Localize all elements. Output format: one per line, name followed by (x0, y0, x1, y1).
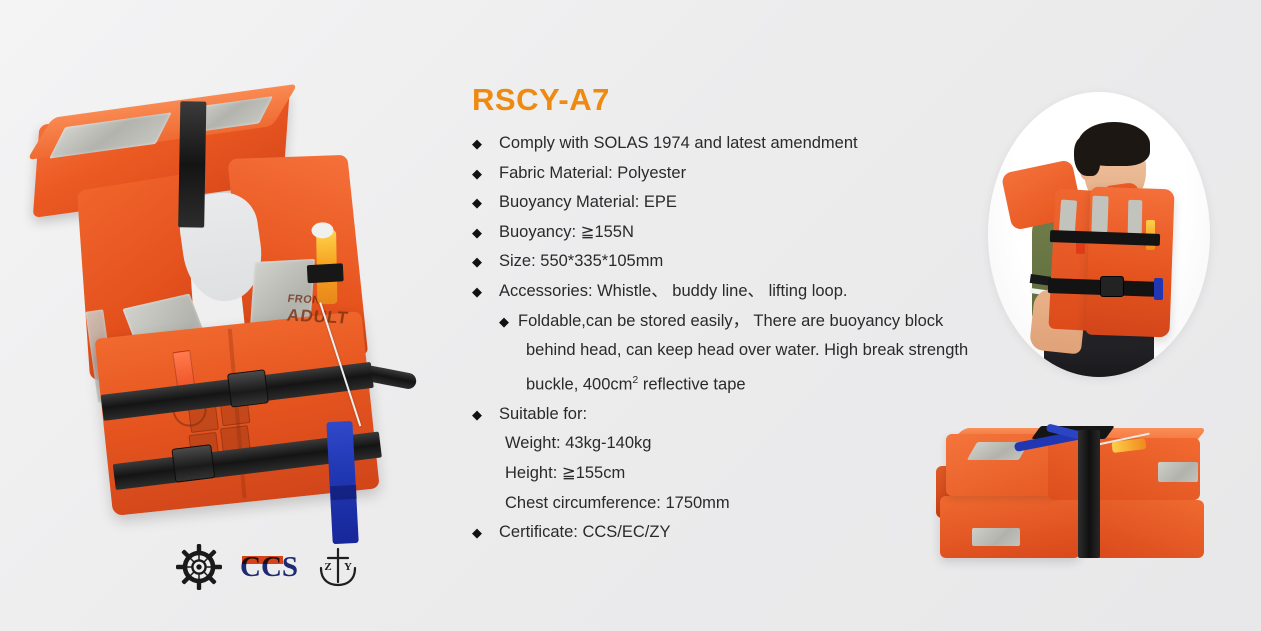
folded-binding-strap (1078, 430, 1100, 558)
spec-item-certificate: Certificate: CCS/EC/ZY (472, 518, 972, 548)
zy-anchor-icon: Z Y (316, 544, 360, 590)
life-jacket-illustration: FRONT ADULT (20, 79, 456, 537)
waist-buckle (171, 444, 215, 483)
suitable-chest: Chest circumference: 1750mm (472, 489, 972, 519)
spec-item-suitable: Suitable for: (472, 400, 972, 430)
ship-wheel-icon (176, 544, 222, 590)
reflective-tape (1091, 196, 1108, 233)
lifting-loop-strap (1154, 278, 1163, 300)
spec-item: Fabric Material: Polyester (472, 159, 972, 189)
shoulder-strap (178, 101, 206, 227)
suitable-height: Height: ≧155cm (472, 459, 972, 489)
reflective-tape (972, 528, 1020, 546)
ccs-logo-text: CCS (240, 551, 298, 583)
anchor-letter-z: Z (324, 561, 331, 573)
spec-item: Buoyancy: ≧155N (472, 218, 972, 248)
suitable-weight: Weight: 43kg-140kg (472, 429, 972, 459)
chest-buckle (227, 369, 269, 407)
spec-list: Comply with SOLAS 1974 and latest amendm… (472, 129, 972, 429)
boy-wearing-life-jacket-photo (988, 92, 1210, 377)
foldable-note-text-tail: reflective tape (638, 375, 745, 393)
spec-item-foldable: Foldable,can be stored easily， There are… (499, 307, 986, 400)
reflective-tape (1128, 200, 1143, 234)
printed-adult-label: ADULT (286, 306, 350, 329)
model-hair-side (1074, 136, 1100, 176)
life-jacket-front-photo: FRONT ADULT (38, 96, 438, 521)
certificate-list: Certificate: CCS/EC/ZY (472, 518, 972, 548)
reflective-tape (1158, 462, 1198, 482)
product-title: RSCY-A7 (472, 84, 972, 115)
reflective-tape (1059, 199, 1077, 232)
certification-logos: CCS Z Y (176, 544, 360, 590)
folded-life-jacket-photo (936, 424, 1236, 584)
spec-item: Size: 550*335*105mm (472, 247, 972, 277)
whistle-retaining-band (307, 263, 344, 283)
spec-item: Comply with SOLAS 1974 and latest amendm… (472, 129, 972, 159)
ccs-logo: CCS (240, 553, 298, 582)
product-sheet: FRONT ADULT (0, 0, 1261, 631)
spec-item: Accessories: Whistle、 buddy line、 liftin… (472, 277, 972, 307)
waist-buckle (1100, 276, 1124, 297)
folded-bottom-left-block (940, 496, 1080, 558)
anchor-letter-y: Y (344, 561, 352, 573)
spec-item: Buoyancy Material: EPE (472, 188, 972, 218)
product-specifications: RSCY-A7 Comply with SOLAS 1974 and lates… (472, 84, 972, 548)
lifting-loop-fold (330, 485, 357, 500)
model-illustration (988, 92, 1210, 377)
